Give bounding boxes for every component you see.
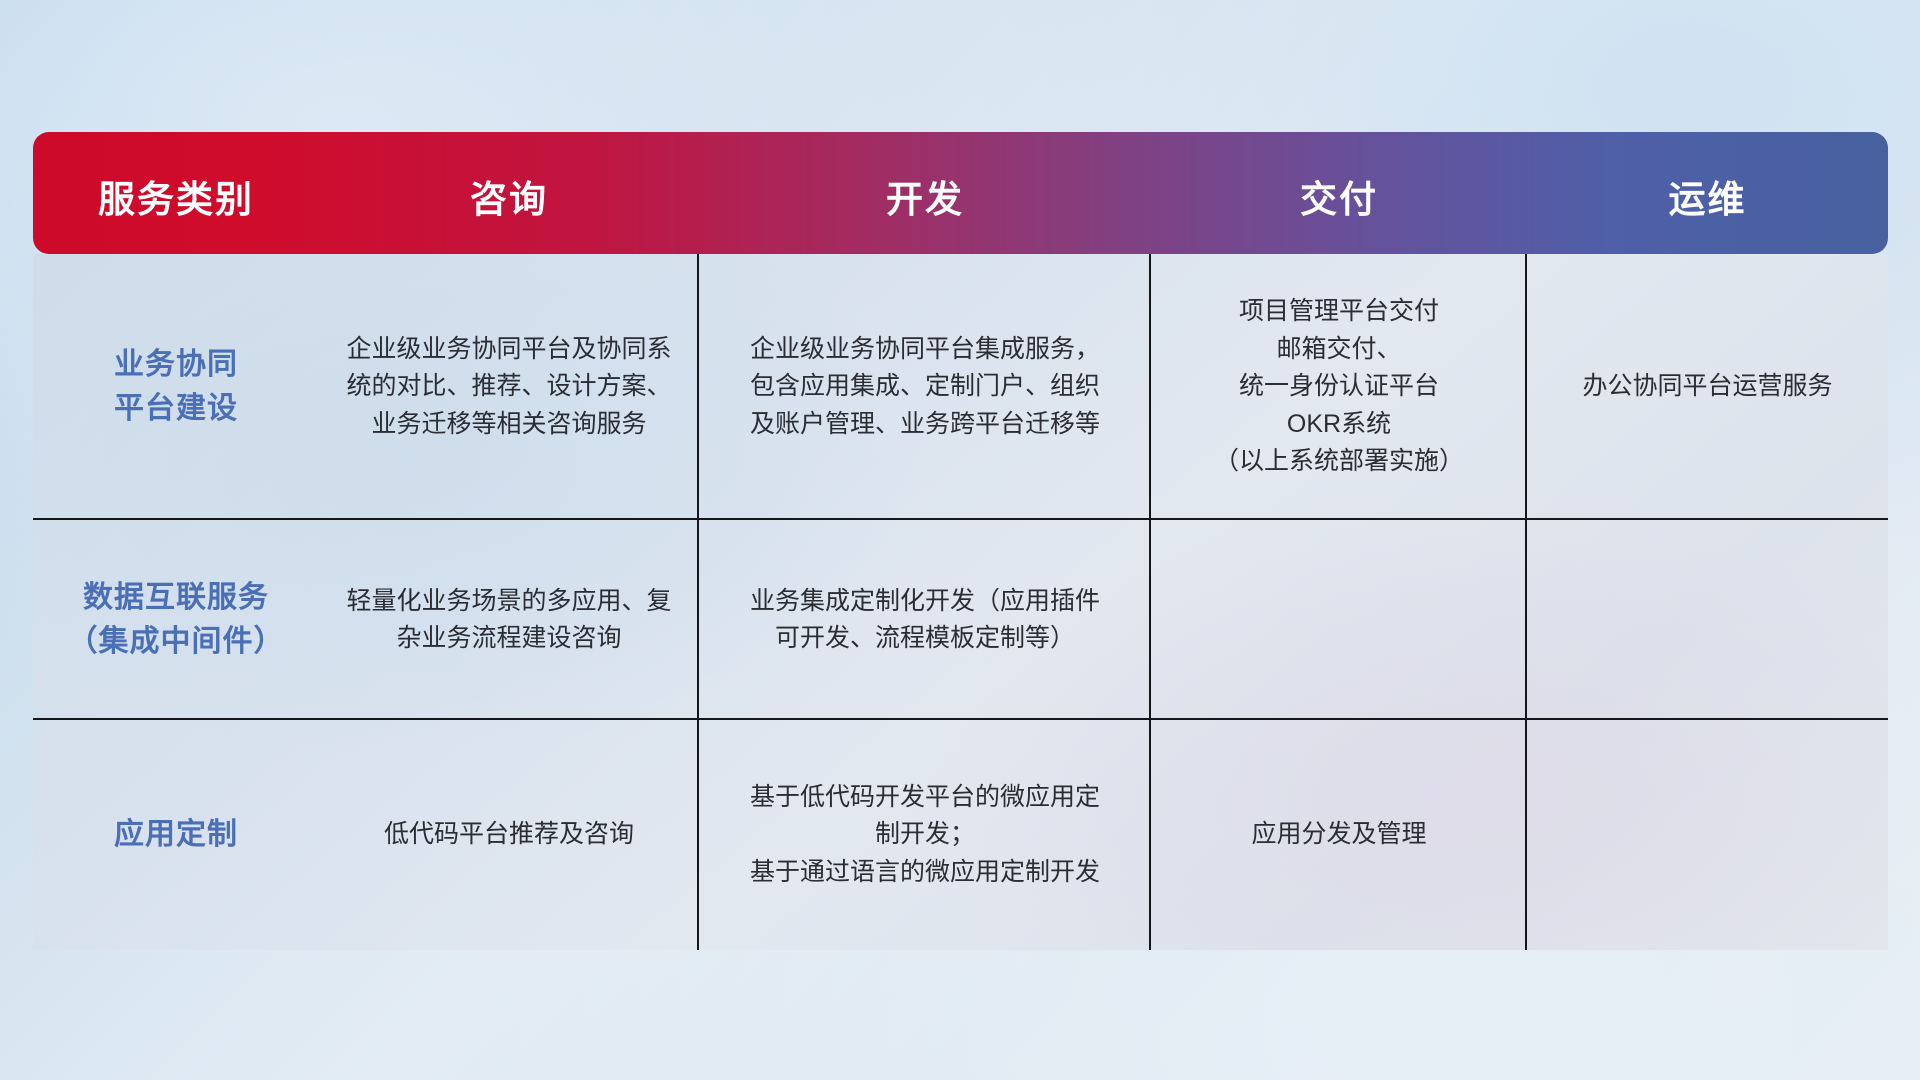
- table-header-row: 服务类别 咨询 开发 交付 运维: [33, 132, 1888, 254]
- slide-canvas: 服务类别 咨询 开发 交付 运维 业务协同 平台建设: [0, 0, 1920, 1080]
- row-label: 应用定制: [114, 813, 238, 857]
- table-row: 业务协同 平台建设 企业级业务协同平台及协同系 统的对比、推荐、设计方案、 业务…: [33, 254, 1888, 520]
- row-label-cell-application-customization: 应用定制: [33, 720, 319, 950]
- cell-consulting-data-interconnection-service: 轻量化业务场景的多应用、复 杂业务流程建设咨询: [319, 520, 699, 720]
- service-matrix-table: 服务类别 咨询 开发 交付 运维 业务协同 平台建设: [33, 132, 1888, 950]
- cell-text: 低代码平台推荐及咨询: [384, 816, 634, 854]
- cell-consulting-business-collaboration-platform: 企业级业务协同平台及协同系 统的对比、推荐、设计方案、 业务迁移等相关咨询服务: [319, 254, 699, 520]
- column-header-label: 交付: [1300, 169, 1378, 223]
- cell-operations-application-customization: [1527, 720, 1888, 950]
- column-header-label: 运维: [1669, 169, 1747, 223]
- cell-consulting-application-customization: 低代码平台推荐及咨询: [319, 720, 699, 950]
- cell-text: 办公协同平台运营服务: [1582, 368, 1832, 406]
- cell-delivery-business-collaboration-platform: 项目管理平台交付 邮箱交付、 统一身份认证平台 OKR系统 （以上系统部署实施）: [1151, 254, 1527, 520]
- column-header-delivery: 交付: [1151, 132, 1527, 254]
- cell-text: 应用分发及管理: [1251, 816, 1426, 854]
- cell-operations-business-collaboration-platform: 办公协同平台运营服务: [1527, 254, 1888, 520]
- column-header-development: 开发: [699, 132, 1151, 254]
- column-header-operations: 运维: [1527, 132, 1888, 254]
- cell-text: 基于低代码开发平台的微应用定 制开发； 基于通过语言的微应用定制开发: [750, 779, 1100, 892]
- column-header-label: 服务类别: [98, 169, 254, 223]
- column-header-label: 咨询: [470, 169, 548, 223]
- cell-operations-data-interconnection-service: [1527, 520, 1888, 720]
- cell-text: 轻量化业务场景的多应用、复 杂业务流程建设咨询: [346, 583, 671, 658]
- row-label: 数据互联服务 （集成中间件）: [68, 576, 285, 665]
- cell-text: 项目管理平台交付 邮箱交付、 统一身份认证平台 OKR系统 （以上系统部署实施）: [1214, 293, 1464, 481]
- cell-development-application-customization: 基于低代码开发平台的微应用定 制开发； 基于通过语言的微应用定制开发: [699, 720, 1151, 950]
- table-row: 数据互联服务 （集成中间件） 轻量化业务场景的多应用、复 杂业务流程建设咨询 业…: [33, 520, 1888, 720]
- table-body: 业务协同 平台建设 企业级业务协同平台及协同系 统的对比、推荐、设计方案、 业务…: [33, 254, 1888, 950]
- cell-text: 业务集成定制化开发（应用插件 可开发、流程模板定制等）: [750, 583, 1100, 658]
- column-header-label: 开发: [886, 169, 964, 223]
- column-header-service-category: 服务类别: [33, 132, 319, 254]
- cell-delivery-application-customization: 应用分发及管理: [1151, 720, 1527, 950]
- table-row: 应用定制 低代码平台推荐及咨询 基于低代码开发平台的微应用定 制开发； 基于通过…: [33, 720, 1888, 950]
- cell-development-business-collaboration-platform: 企业级业务协同平台集成服务， 包含应用集成、定制门户、组织 及账户管理、业务跨平…: [699, 254, 1151, 520]
- cell-text: 企业级业务协同平台集成服务， 包含应用集成、定制门户、组织 及账户管理、业务跨平…: [750, 331, 1100, 444]
- column-header-consulting: 咨询: [319, 132, 699, 254]
- cell-delivery-data-interconnection-service: [1151, 520, 1527, 720]
- cell-text: 企业级业务协同平台及协同系 统的对比、推荐、设计方案、 业务迁移等相关咨询服务: [346, 331, 671, 444]
- row-label-cell-data-interconnection-service: 数据互联服务 （集成中间件）: [33, 520, 319, 720]
- row-label-cell-business-collaboration-platform: 业务协同 平台建设: [33, 254, 319, 520]
- cell-development-data-interconnection-service: 业务集成定制化开发（应用插件 可开发、流程模板定制等）: [699, 520, 1151, 720]
- row-label: 业务协同 平台建设: [114, 343, 238, 432]
